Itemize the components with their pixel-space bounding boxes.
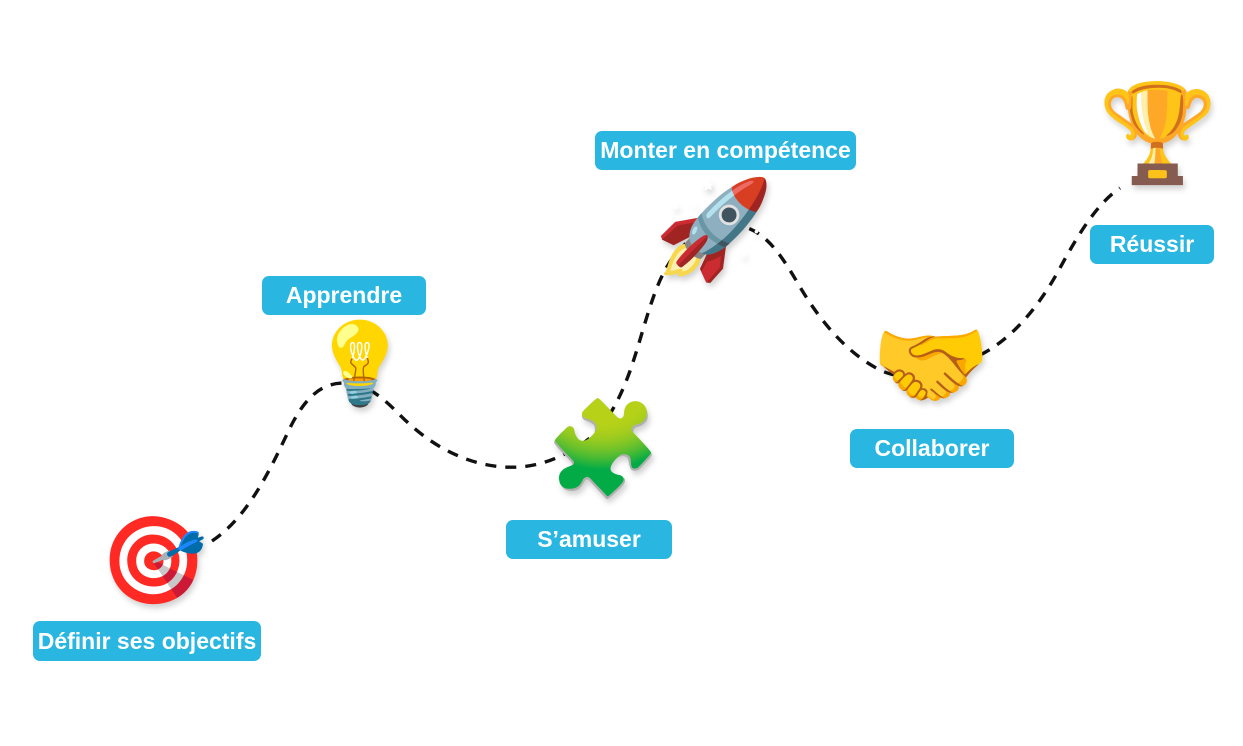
step-label-s-amuser[interactable]: S’amuser bbox=[506, 520, 672, 559]
handshake-icon: 🤝 bbox=[871, 318, 991, 414]
trophy-icon: 🏆 bbox=[1098, 86, 1218, 182]
journey-infographic: 🎯 Définir ses objectifs 💡 Apprendre 🧩 S’… bbox=[0, 0, 1243, 746]
dart-target-icon: 🎯 bbox=[100, 518, 207, 604]
puzzle-piece-icon: 🧩 bbox=[546, 403, 661, 495]
step-label-reussir[interactable]: Réussir bbox=[1090, 225, 1214, 264]
step-label-definir-ses-objectifs[interactable]: Définir ses objectifs bbox=[33, 621, 261, 661]
rocket-icon: 🚀 bbox=[654, 182, 774, 278]
step-label-apprendre[interactable]: Apprendre bbox=[262, 276, 426, 315]
lightbulb-icon: 💡 bbox=[310, 324, 410, 404]
step-label-collaborer[interactable]: Collaborer bbox=[850, 429, 1014, 468]
step-label-monter-en-competence[interactable]: Monter en compétence bbox=[595, 131, 856, 170]
